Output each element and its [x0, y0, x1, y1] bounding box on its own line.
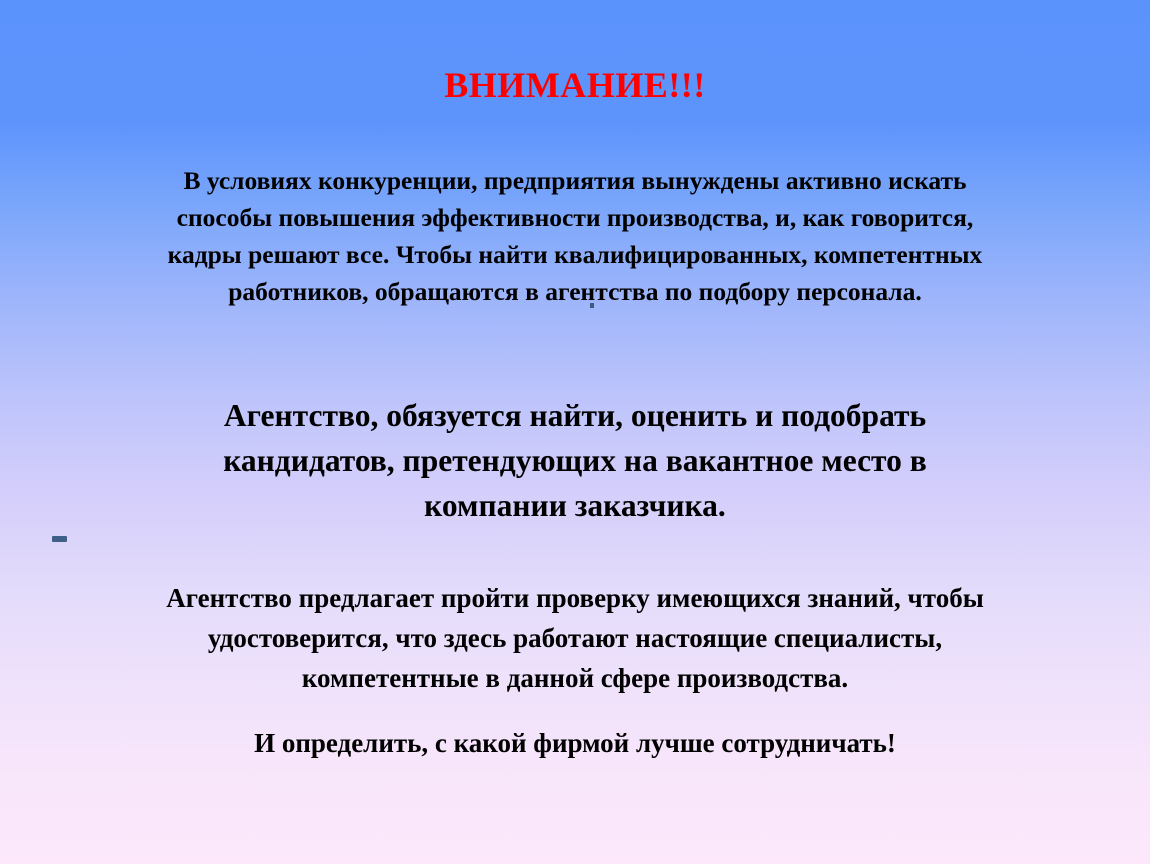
- verification-line-3: компетентные в данной сфере производства…: [55, 658, 1095, 698]
- verification-line-2: удостоверится, что здесь работают настоя…: [55, 618, 1095, 658]
- obligation-paragraph: Агентство, обязуется найти, оценить и по…: [75, 393, 1075, 528]
- obligation-line-3: компании заказчика.: [75, 483, 1075, 528]
- verification-line-1: Агентство предлагает пройти проверку име…: [55, 578, 1095, 618]
- presentation-slide: ВНИМАНИЕ!!! В условиях конкуренции, пред…: [0, 0, 1150, 864]
- stray-period-mark: [590, 303, 594, 308]
- verification-paragraph: Агентство предлагает пройти проверку име…: [55, 578, 1095, 698]
- intro-line-1: В условиях конкуренции, предприятия выну…: [75, 162, 1075, 199]
- obligation-line-1: Агентство, обязуется найти, оценить и по…: [75, 393, 1075, 438]
- intro-line-3: кадры решают все. Чтобы найти квалифицир…: [75, 236, 1075, 273]
- obligation-line-2: кандидатов, претендующих на вакантное ме…: [75, 438, 1075, 483]
- closing-line-1: И определить, с какой фирмой лучше сотру…: [55, 723, 1095, 763]
- closing-paragraph: И определить, с какой фирмой лучше сотру…: [55, 723, 1095, 763]
- intro-paragraph: В условиях конкуренции, предприятия выну…: [75, 162, 1075, 310]
- slide-title: ВНИМАНИЕ!!!: [0, 63, 1150, 107]
- intro-line-4: работников, обращаются в агентства по по…: [75, 273, 1075, 310]
- intro-line-2: способы повышения эффективности производ…: [75, 199, 1075, 236]
- left-dash-mark: [52, 536, 67, 542]
